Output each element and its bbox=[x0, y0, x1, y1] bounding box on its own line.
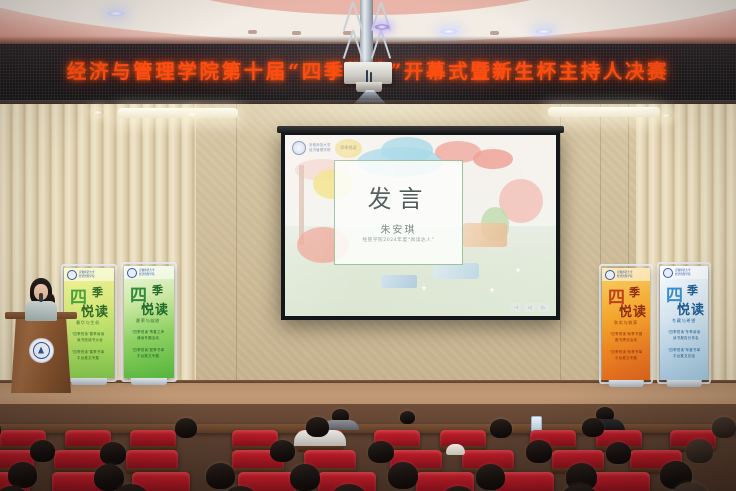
standee-header: 安徽师范大学 经济管理学院 bbox=[660, 266, 708, 279]
slide-speaker-name: 朱安琪 bbox=[335, 221, 462, 236]
slide-open-book bbox=[463, 223, 507, 247]
standee-title-char-2: 季 bbox=[92, 284, 104, 300]
standee-subtitle: 冬藏与希望 bbox=[672, 318, 696, 324]
standee-bullet-3: “四季悦读”夏季书单 bbox=[132, 348, 164, 353]
standee-bullet-3: “四季悦读”年度书单 bbox=[668, 348, 700, 353]
standee-header-text: 安徽师范大学 经济管理学院 bbox=[139, 269, 155, 276]
slide-event-badge: 四季悦读 bbox=[335, 139, 362, 158]
slide-content-card: 发言 朱安琪 经管学院2024年度“阅读达人” bbox=[334, 160, 463, 265]
standee-subtitle: 夏荣与绽放 bbox=[136, 318, 160, 324]
speaker-torso bbox=[25, 301, 57, 321]
projector-lift-lattice bbox=[343, 30, 354, 59]
standee-title-char-2: 季 bbox=[687, 282, 699, 298]
slide-book-blue bbox=[381, 275, 417, 288]
playback-prev-icon[interactable]: ◁ bbox=[524, 303, 535, 312]
standee-artwork: 安徽师范大学 经济管理学院 四 季 悦读 冬藏与希望 “四季悦读”冬季阅读 读书… bbox=[660, 266, 708, 380]
podium bbox=[8, 312, 74, 400]
microphone-icon bbox=[39, 293, 43, 302]
standee-bullet-1: “四季悦读”春季阅读 bbox=[72, 332, 104, 337]
standee-bullet-4: 平台推文专题 bbox=[77, 356, 99, 361]
standee-title-char-3: 悦读 bbox=[81, 301, 109, 320]
theater-seat[interactable] bbox=[592, 472, 650, 491]
standee-base bbox=[71, 378, 107, 385]
standee-subtitle: 春华与生机 bbox=[76, 320, 100, 326]
projection-screen: 安徽师范大学 经济管理学院 四季悦读 发言 朱安琪 经管学院2024年度“阅读达… bbox=[281, 131, 560, 320]
projector-indicator-lamp bbox=[374, 24, 390, 30]
audience-cap bbox=[446, 444, 465, 455]
ceiling-cove-light-right bbox=[548, 107, 660, 117]
slide-cloud-pink bbox=[473, 149, 513, 169]
theater-seat[interactable] bbox=[126, 450, 178, 470]
standee-bullet-2: 读书班读书沙龙 bbox=[77, 338, 103, 343]
standee-title-char-3: 悦读 bbox=[619, 301, 647, 320]
standee-bullet-3: “四季悦读”春季书单 bbox=[72, 350, 104, 355]
university-seal-icon bbox=[663, 268, 673, 278]
standee-header-text: 安徽师范大学 经济管理学院 bbox=[617, 271, 633, 278]
standee-artwork: 安徽师范大学 经济管理学院 四 季 悦读 夏荣与绽放 “四季悦读”青春之声 诵读… bbox=[124, 266, 174, 378]
audience-seating-area bbox=[0, 404, 736, 491]
standee-bullet-3: “四季悦读”秋季书单 bbox=[610, 350, 642, 355]
university-seal-icon bbox=[292, 141, 306, 155]
standee-subtitle: 秋实与收获 bbox=[614, 320, 638, 326]
standee-header: 安徽师范大学 经济管理学院 bbox=[64, 268, 114, 281]
banner-standee-summer: 安徽师范大学 经济管理学院 四 季 悦读 夏荣与绽放 “四季悦读”青春之声 诵读… bbox=[124, 266, 174, 378]
audience-head bbox=[526, 440, 552, 463]
slide-event-badge-text: 四季悦读 bbox=[335, 145, 362, 151]
audience-head bbox=[8, 462, 37, 488]
playback-stop-icon[interactable]: ⊣ bbox=[510, 303, 521, 312]
wall-downlight bbox=[660, 113, 672, 118]
slide-subtitle: 经管学院2024年度“阅读达人” bbox=[335, 237, 462, 243]
theater-seat[interactable] bbox=[440, 430, 486, 448]
audience-head bbox=[476, 464, 505, 490]
audience-head bbox=[606, 442, 631, 464]
ceiling-spotlight bbox=[438, 28, 460, 35]
standee-title-char-3: 悦读 bbox=[677, 299, 705, 318]
audience-head bbox=[490, 419, 512, 438]
ceiling-cove-light-left bbox=[118, 108, 238, 118]
audience-head bbox=[582, 418, 604, 437]
audience-head bbox=[400, 411, 415, 424]
ceiling-spotlight bbox=[105, 10, 127, 17]
slide-logo-text: 安徽师范大学 经济管理学院 bbox=[309, 143, 331, 152]
university-seal-icon bbox=[605, 270, 615, 280]
standee-bullet-1: “四季悦读”青春之声 bbox=[132, 330, 164, 335]
ceiling-vent bbox=[292, 31, 301, 35]
standee-title-char-3: 悦读 bbox=[141, 299, 169, 318]
slide-title: 发言 bbox=[335, 179, 462, 214]
podium-university-emblem bbox=[29, 338, 54, 363]
slide-cloud-blue bbox=[381, 137, 433, 163]
standee-header: 安徽师范大学 经济管理学院 bbox=[124, 266, 174, 279]
standee-artwork: 安徽师范大学 经济管理学院 四 季 悦读 秋实与收获 “四季悦读”秋季书展 图书… bbox=[602, 268, 650, 380]
banner-standee-winter: 安徽师范大学 经济管理学院 四 季 悦读 冬藏与希望 “四季悦读”冬季阅读 读书… bbox=[660, 266, 708, 380]
audience-head bbox=[100, 442, 126, 465]
auditorium-photo: 经济与管理学院第十届“四季悦读”开幕式暨新生杯主持人决赛 bbox=[0, 0, 736, 491]
standee-bullet-1: “四季悦读”冬季阅读 bbox=[668, 330, 700, 335]
ceiling-projector bbox=[330, 0, 404, 106]
audience-head bbox=[388, 462, 418, 489]
standee-bullet-1: “四季悦读”秋季书展 bbox=[610, 332, 642, 337]
audience-head bbox=[686, 439, 713, 463]
playback-next-icon[interactable]: ▷ bbox=[538, 303, 549, 312]
standee-base bbox=[609, 380, 644, 387]
standee-title-char-2: 季 bbox=[629, 284, 641, 300]
standee-header-text: 安徽师范大学 经济管理学院 bbox=[675, 269, 691, 276]
projector-body bbox=[344, 62, 392, 84]
standee-bullet-4: 平台推文专题 bbox=[137, 354, 159, 359]
standee-header-text: 安徽师范大学 经济管理学院 bbox=[79, 271, 95, 278]
standee-bullet-4: 平台推文专题 bbox=[615, 356, 637, 361]
standee-bullet-2: 诵读专题活动 bbox=[137, 336, 159, 341]
standee-base bbox=[131, 378, 167, 385]
audience-head bbox=[175, 418, 197, 438]
university-seal-icon bbox=[127, 268, 137, 278]
ceiling-vent bbox=[490, 31, 499, 35]
standee-base bbox=[667, 380, 702, 387]
projector-lift-lattice bbox=[380, 30, 391, 59]
audience-head bbox=[270, 440, 295, 462]
audience-head bbox=[712, 417, 736, 438]
audience-head bbox=[306, 417, 329, 437]
standee-header: 安徽师范大学 经济管理学院 bbox=[602, 268, 650, 281]
wall-downlight bbox=[186, 112, 198, 117]
audience-head bbox=[368, 441, 394, 463]
slide-university-logo: 安徽师范大学 经济管理学院 bbox=[292, 141, 331, 155]
slide-playback-controls[interactable]: ⊣ ◁ ▷ bbox=[510, 303, 549, 312]
projector-light-beam bbox=[352, 90, 388, 106]
audience-head bbox=[30, 440, 55, 462]
projected-slide: 安徽师范大学 经济管理学院 四季悦读 发言 朱安琪 经管学院2024年度“阅读达… bbox=[285, 135, 556, 316]
projector-lift-lattice bbox=[343, 2, 354, 31]
theater-seat[interactable] bbox=[130, 430, 176, 448]
standee-bullet-2: 读书报告分享会 bbox=[673, 336, 699, 341]
speaker-person bbox=[23, 278, 59, 318]
university-seal-icon bbox=[33, 342, 50, 359]
audience-head bbox=[290, 464, 320, 491]
banner-standee-autumn: 安徽师范大学 经济管理学院 四 季 悦读 秋实与收获 “四季悦读”秋季书展 图书… bbox=[602, 268, 650, 380]
projector-lift-column bbox=[360, 0, 373, 62]
projection-screen-roller bbox=[277, 126, 564, 133]
university-seal-icon bbox=[67, 270, 77, 280]
ceiling-vent bbox=[248, 30, 257, 34]
standee-bullet-4: 平台推文总结 bbox=[673, 354, 695, 359]
standee-title-char-2: 季 bbox=[152, 282, 164, 298]
ceiling-spotlight bbox=[533, 28, 555, 35]
standee-bullet-2: 图书漂流活动 bbox=[615, 338, 637, 343]
wall-downlight bbox=[92, 110, 104, 115]
audience-head bbox=[206, 463, 235, 489]
